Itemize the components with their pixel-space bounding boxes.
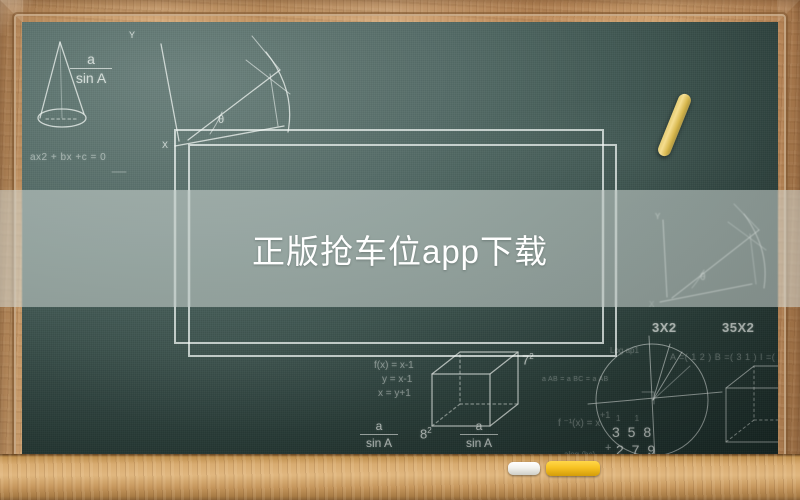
- yellow-chalk-stick: [546, 461, 600, 476]
- page-title: 正版抢车位app下载: [0, 190, 800, 307]
- screenshot-root: a sin A Y X θ ax2 + bx +c = 0 Y X θ 35X2…: [0, 0, 800, 500]
- chalk-ledge: [0, 454, 800, 500]
- white-chalk-stick: [508, 462, 540, 475]
- ledge-wood-grain: [0, 454, 800, 500]
